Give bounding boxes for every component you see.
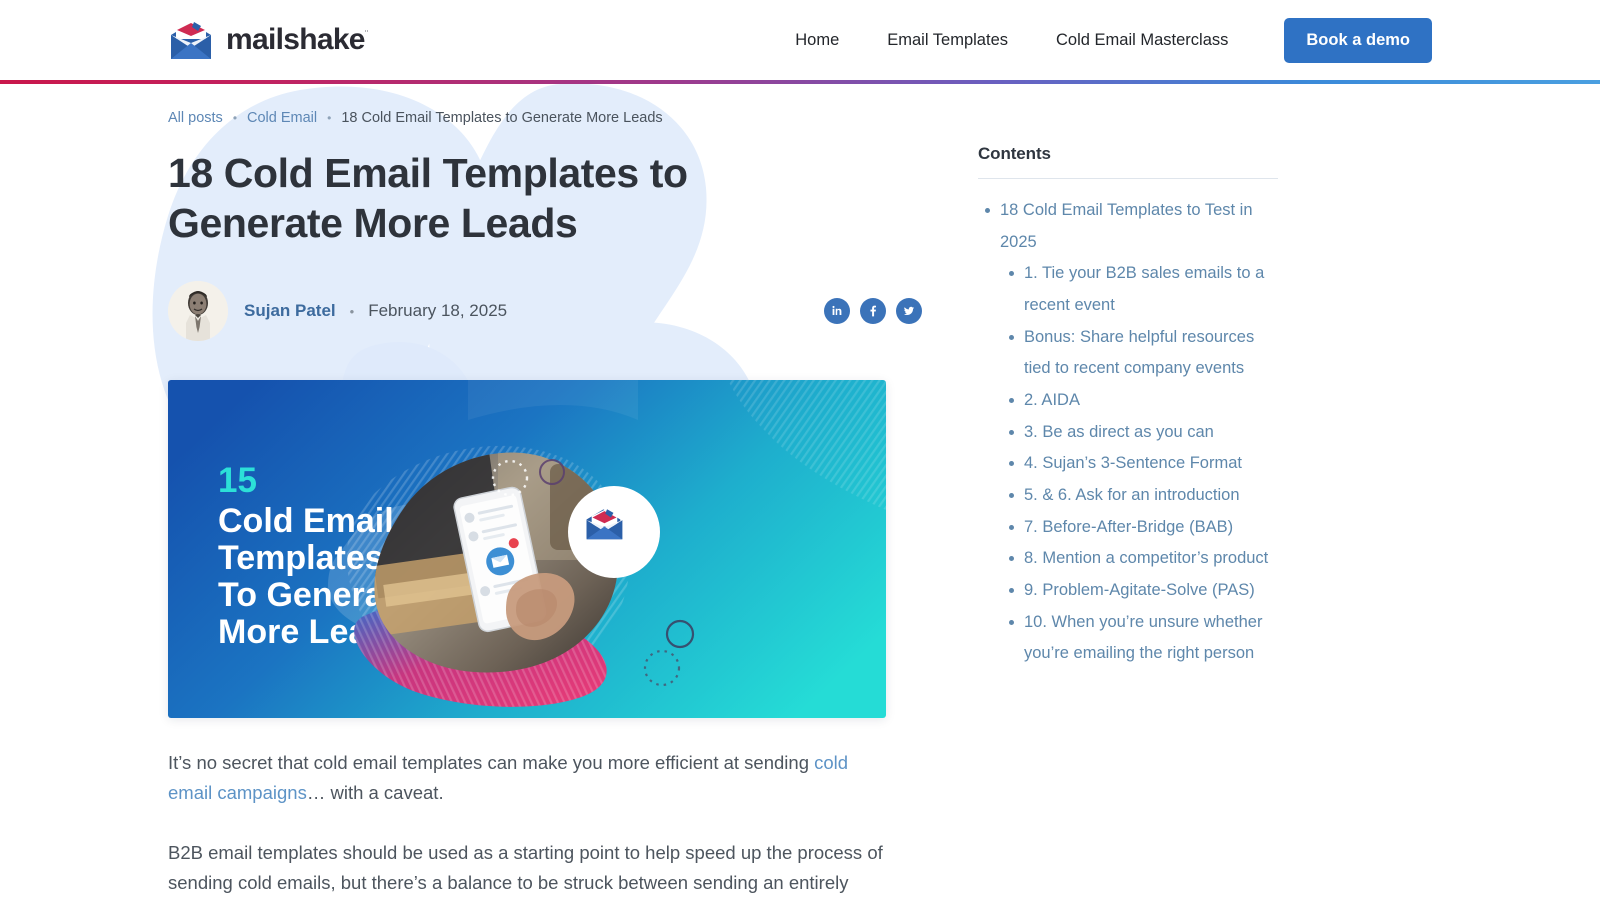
table-of-contents: Contents 18 Cold Email Templates to Test… (978, 84, 1278, 900)
site-header: mailshake¨ Home Email Templates Cold Ema… (0, 0, 1600, 80)
toc-link-7[interactable]: 7. Before-After-Bridge (BAB) (1024, 512, 1278, 544)
avatar (168, 281, 228, 341)
twitter-icon[interactable] (896, 298, 922, 324)
toc-link-top[interactable]: 18 Cold Email Templates to Test in 2025 (1000, 195, 1278, 258)
linkedin-icon[interactable] (824, 298, 850, 324)
toc-subitem: 7. Before-After-Bridge (BAB) (1024, 512, 1278, 544)
toc-link-5-6[interactable]: 5. & 6. Ask for an introduction (1024, 480, 1278, 512)
toc-list: 18 Cold Email Templates to Test in 2025 … (978, 195, 1278, 670)
toc-subitem: 1. Tie your B2B sales emails to a recent… (1024, 258, 1278, 321)
toc-link-9[interactable]: 9. Problem-Agitate-Solve (PAS) (1024, 575, 1278, 607)
toc-subitem: 2. AIDA (1024, 385, 1278, 417)
breadcrumb: All posts • Cold Email • 18 Cold Email T… (168, 84, 928, 126)
brand-wordmark: mailshake¨ (226, 25, 368, 55)
breadcrumb-separator: • (233, 112, 237, 124)
nav-item-email-templates[interactable]: Email Templates (863, 21, 1032, 60)
toc-divider (978, 178, 1278, 179)
nav-item-cold-email-masterclass[interactable]: Cold Email Masterclass (1032, 21, 1252, 60)
toc-heading: Contents (978, 144, 1278, 178)
svg-text:15: 15 (218, 461, 257, 500)
post-date: February 18, 2025 (368, 301, 507, 321)
paragraph-2: B2B email templates should be used as a … (168, 838, 886, 898)
nav-item-home[interactable]: Home (771, 21, 863, 60)
toc-subitem: 3. Be as direct as you can (1024, 417, 1278, 449)
meta-separator: • (350, 304, 355, 319)
toc-item: 18 Cold Email Templates to Test in 2025 … (1000, 195, 1278, 670)
main-navigation: Home Email Templates Cold Email Mastercl… (771, 18, 1432, 63)
article-column: All posts • Cold Email • 18 Cold Email T… (168, 84, 928, 900)
toc-subitem: 5. & 6. Ask for an introduction (1024, 480, 1278, 512)
breadcrumb-item-all-posts[interactable]: All posts (168, 110, 223, 126)
toc-link-2[interactable]: 2. AIDA (1024, 385, 1278, 417)
facebook-icon[interactable] (860, 298, 886, 324)
toc-subitem: 8. Mention a competitor’s product (1024, 543, 1278, 575)
page-body: All posts • Cold Email • 18 Cold Email T… (0, 84, 1600, 900)
toc-subitem: 9. Problem-Agitate-Solve (PAS) (1024, 575, 1278, 607)
paragraph-text: It’s no secret that cold email templates… (168, 752, 814, 773)
article-meta-row: Sujan Patel • February 18, 2025 (168, 280, 928, 342)
paragraph-text: … with a caveat. (307, 782, 444, 803)
article-hero-image: 15 Cold Email Templates To Generate More… (168, 380, 886, 718)
toc-sublist: 1. Tie your B2B sales emails to a recent… (1000, 258, 1278, 670)
toc-subitem: 10. When you’re unsure whether you’re em… (1024, 607, 1278, 670)
toc-link-1[interactable]: 1. Tie your B2B sales emails to a recent… (1024, 258, 1278, 321)
toc-link-4[interactable]: 4. Sujan’s 3-Sentence Format (1024, 448, 1278, 480)
breadcrumb-item-current: 18 Cold Email Templates to Generate More… (341, 110, 662, 126)
breadcrumb-separator: • (327, 112, 331, 124)
page-title: 18 Cold Email Templates to Generate More… (168, 148, 848, 248)
paragraph-1: It’s no secret that cold email templates… (168, 748, 886, 808)
article-body: It’s no secret that cold email templates… (168, 748, 886, 898)
author-name-link[interactable]: Sujan Patel (244, 301, 336, 321)
mailshake-envelope-logo-icon (168, 19, 214, 61)
book-a-demo-button[interactable]: Book a demo (1284, 18, 1432, 63)
toc-subitem: Bonus: Share helpful resources tied to r… (1024, 322, 1278, 385)
breadcrumb-item-cold-email[interactable]: Cold Email (247, 110, 317, 126)
toc-link-bonus[interactable]: Bonus: Share helpful resources tied to r… (1024, 322, 1278, 385)
toc-link-3[interactable]: 3. Be as direct as you can (1024, 417, 1278, 449)
brand-logo-link[interactable]: mailshake¨ (168, 19, 368, 61)
toc-link-8[interactable]: 8. Mention a competitor’s product (1024, 543, 1278, 575)
share-buttons (824, 298, 928, 324)
toc-link-10[interactable]: 10. When you’re unsure whether you’re em… (1024, 607, 1278, 670)
toc-subitem: 4. Sujan’s 3-Sentence Format (1024, 448, 1278, 480)
